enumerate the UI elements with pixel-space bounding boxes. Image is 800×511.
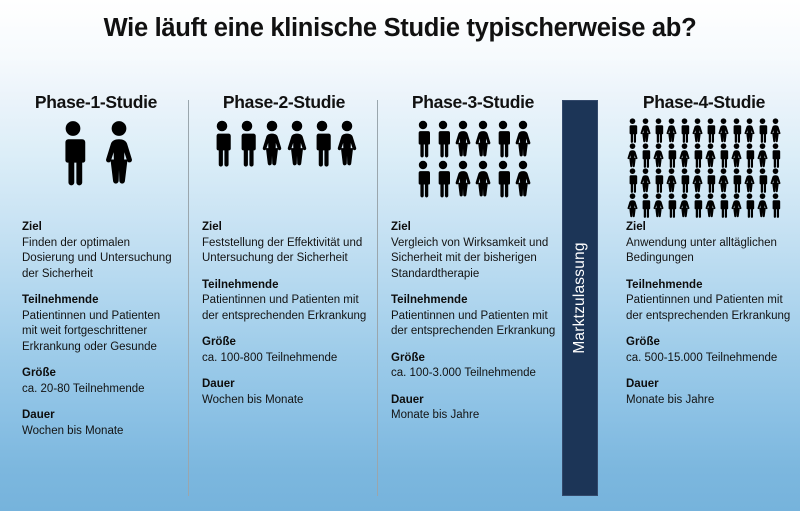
person-icon-male bbox=[495, 120, 511, 158]
column-divider-2 bbox=[377, 100, 378, 496]
person-icon-male bbox=[435, 120, 451, 158]
pictogram-group-phase-2 bbox=[212, 120, 357, 202]
person-icon-male bbox=[495, 160, 511, 198]
field-participants-4: Teilnehmende Patientinnen und Patienten … bbox=[626, 278, 794, 325]
person-icon-male bbox=[718, 143, 729, 168]
pictogram-group-phase-4 bbox=[627, 118, 781, 206]
field-value-size: ca. 20-80 Teilnehmende bbox=[22, 382, 178, 398]
phase-details-1: Ziel Finden der optimalen Dosierung und … bbox=[8, 220, 184, 439]
column-divider-1 bbox=[188, 100, 189, 496]
phase-details-3: Ziel Vergleich von Wirksamkeit und Siche… bbox=[385, 220, 561, 424]
phase-title-3: Phase-3-Studie bbox=[385, 92, 561, 113]
field-value-size: ca. 500-15.000 Teilnehmende bbox=[626, 351, 794, 367]
market-approval-label: Marktzulassung bbox=[571, 242, 589, 353]
person-icon-female bbox=[744, 168, 755, 193]
person-icon-female bbox=[731, 143, 742, 168]
field-duration-4: Dauer Monate bis Jahre bbox=[626, 377, 794, 408]
field-label-participants: Teilnehmende bbox=[626, 278, 794, 294]
field-label-size: Größe bbox=[22, 366, 178, 382]
field-label-size: Größe bbox=[391, 351, 557, 367]
person-icon-male bbox=[744, 143, 755, 168]
field-label-size: Größe bbox=[202, 335, 368, 351]
person-icon-female bbox=[515, 160, 531, 198]
person-icon-male bbox=[627, 118, 638, 143]
phase-column-1: Phase-1-Studie Ziel Finden der optimalen… bbox=[8, 92, 184, 497]
person-icon-male bbox=[731, 168, 742, 193]
field-value-duration: Monate bis Jahre bbox=[626, 393, 794, 409]
person-icon-male bbox=[212, 120, 232, 167]
person-icon-male bbox=[679, 168, 690, 193]
person-icon-female bbox=[718, 118, 729, 143]
person-icon-female bbox=[679, 143, 690, 168]
person-icon-female bbox=[475, 160, 491, 198]
person-icon-female bbox=[692, 118, 703, 143]
person-icon-male bbox=[770, 143, 781, 168]
person-icon-male bbox=[435, 160, 451, 198]
person-icon-female bbox=[640, 118, 651, 143]
phase-title-2: Phase-2-Studie bbox=[196, 92, 372, 113]
field-label-duration: Dauer bbox=[22, 408, 178, 424]
person-icon-female bbox=[744, 118, 755, 143]
person-icon-male bbox=[415, 120, 431, 158]
field-size-2: Größe ca. 100-800 Teilnehmende bbox=[202, 335, 368, 366]
person-icon-female bbox=[757, 193, 768, 218]
person-icon-female bbox=[770, 118, 781, 143]
field-label-duration: Dauer bbox=[626, 377, 794, 393]
field-value-duration: Wochen bis Monate bbox=[22, 424, 178, 440]
person-icon-female bbox=[679, 193, 690, 218]
phase-title-4: Phase-4-Studie bbox=[612, 92, 796, 113]
field-label-goal: Ziel bbox=[391, 220, 557, 236]
field-duration-3: Dauer Monate bis Jahre bbox=[391, 393, 557, 424]
person-icon-female bbox=[770, 168, 781, 193]
phase-details-2: Ziel Feststellung der Effektivität und U… bbox=[196, 220, 372, 408]
field-label-size: Größe bbox=[626, 335, 794, 351]
person-icon-male bbox=[705, 168, 716, 193]
field-size-3: Größe ca. 100-3.000 Teilnehmende bbox=[391, 351, 557, 382]
field-participants-3: Teilnehmende Patientinnen und Patienten … bbox=[391, 293, 557, 340]
field-value-goal: Finden der optimalen Dosierung und Unter… bbox=[22, 236, 178, 283]
person-icon-female bbox=[627, 193, 638, 218]
person-icon-male bbox=[666, 193, 677, 218]
field-goal-1: Ziel Finden der optimalen Dosierung und … bbox=[22, 220, 178, 282]
person-icon-female bbox=[105, 120, 133, 186]
field-label-participants: Teilnehmende bbox=[391, 293, 557, 309]
person-icon-male bbox=[705, 118, 716, 143]
person-icon-male bbox=[415, 160, 431, 198]
field-value-participants: Patientinnen und Patienten mit der entsp… bbox=[626, 293, 794, 324]
field-value-participants: Patientinnen und Patienten mit der entsp… bbox=[391, 309, 557, 340]
person-icon-female bbox=[718, 168, 729, 193]
page-title: Wie läuft eine klinische Studie typische… bbox=[0, 14, 800, 43]
person-icon-female bbox=[455, 120, 471, 158]
pictogram-group-phase-3 bbox=[415, 120, 531, 202]
infographic-root: Wie läuft eine klinische Studie typische… bbox=[0, 0, 800, 511]
person-icon-female bbox=[262, 120, 282, 167]
phase-details-4: Ziel Anwendung unter alltäglichen Beding… bbox=[612, 220, 796, 408]
field-value-goal: Feststellung der Effektivität und Unters… bbox=[202, 236, 368, 267]
person-icon-female bbox=[705, 143, 716, 168]
person-icon-male bbox=[718, 193, 729, 218]
person-icon-male bbox=[744, 193, 755, 218]
person-icon-male bbox=[757, 118, 768, 143]
person-icon-female bbox=[475, 120, 491, 158]
person-icon-male bbox=[59, 120, 87, 186]
person-icon-male bbox=[237, 120, 257, 167]
field-label-goal: Ziel bbox=[626, 220, 794, 236]
person-icon-male bbox=[757, 168, 768, 193]
field-label-duration: Dauer bbox=[391, 393, 557, 409]
person-icon-female bbox=[653, 193, 664, 218]
person-icon-male bbox=[312, 120, 332, 167]
field-value-participants: Patientinnen und Patienten mit weit fort… bbox=[22, 309, 178, 356]
person-icon-female bbox=[640, 168, 651, 193]
person-icon-male bbox=[770, 193, 781, 218]
person-icon-male bbox=[640, 143, 651, 168]
field-goal-2: Ziel Feststellung der Effektivität und U… bbox=[202, 220, 368, 267]
person-icon-male bbox=[731, 118, 742, 143]
person-icon-female bbox=[757, 143, 768, 168]
phase-column-3: Phase-3-Studie Ziel Vergleich von Wirksa… bbox=[385, 92, 561, 497]
field-value-duration: Monate bis Jahre bbox=[391, 408, 557, 424]
field-duration-2: Dauer Wochen bis Monate bbox=[202, 377, 368, 408]
person-icon-male bbox=[653, 168, 664, 193]
person-icon-female bbox=[287, 120, 307, 167]
person-icon-female bbox=[653, 143, 664, 168]
person-icon-female bbox=[705, 193, 716, 218]
person-icon-male bbox=[679, 118, 690, 143]
person-icon-female bbox=[455, 160, 471, 198]
field-participants-2: Teilnehmende Patientinnen und Patienten … bbox=[202, 278, 368, 325]
field-goal-3: Ziel Vergleich von Wirksamkeit und Siche… bbox=[391, 220, 557, 282]
market-approval-bar: Marktzulassung bbox=[562, 100, 598, 496]
phase-column-4: Phase-4-Studie Ziel Anwendung unter allt… bbox=[612, 92, 796, 497]
field-size-1: Größe ca. 20-80 Teilnehmende bbox=[22, 366, 178, 397]
field-value-goal: Vergleich von Wirksamkeit und Sicherheit… bbox=[391, 236, 557, 283]
person-icon-male bbox=[692, 143, 703, 168]
field-value-participants: Patientinnen und Patienten mit der entsp… bbox=[202, 293, 368, 324]
field-participants-1: Teilnehmende Patientinnen und Patienten … bbox=[22, 293, 178, 355]
field-label-duration: Dauer bbox=[202, 377, 368, 393]
field-value-size: ca. 100-3.000 Teilnehmende bbox=[391, 366, 557, 382]
field-label-goal: Ziel bbox=[22, 220, 178, 236]
person-icon-male bbox=[666, 143, 677, 168]
field-label-participants: Teilnehmende bbox=[22, 293, 178, 309]
person-icon-female bbox=[666, 118, 677, 143]
person-icon-female bbox=[515, 120, 531, 158]
field-size-4: Größe ca. 500-15.000 Teilnehmende bbox=[626, 335, 794, 366]
field-value-goal: Anwendung unter alltäglichen Bedingungen bbox=[626, 236, 794, 267]
field-goal-4: Ziel Anwendung unter alltäglichen Beding… bbox=[626, 220, 794, 267]
field-duration-1: Dauer Wochen bis Monate bbox=[22, 408, 178, 439]
person-icon-male bbox=[640, 193, 651, 218]
person-icon-male bbox=[653, 118, 664, 143]
field-value-size: ca. 100-800 Teilnehmende bbox=[202, 351, 368, 367]
person-icon-female bbox=[627, 143, 638, 168]
person-icon-male bbox=[627, 168, 638, 193]
pictogram-group-phase-1 bbox=[59, 120, 133, 202]
person-icon-female bbox=[666, 168, 677, 193]
person-icon-female bbox=[337, 120, 357, 167]
phase-column-2: Phase-2-Studie Ziel Feststellung der Eff… bbox=[196, 92, 372, 497]
field-value-duration: Wochen bis Monate bbox=[202, 393, 368, 409]
person-icon-female bbox=[692, 168, 703, 193]
person-icon-male bbox=[692, 193, 703, 218]
phase-title-1: Phase-1-Studie bbox=[8, 92, 184, 113]
field-label-goal: Ziel bbox=[202, 220, 368, 236]
field-label-participants: Teilnehmende bbox=[202, 278, 368, 294]
person-icon-female bbox=[731, 193, 742, 218]
